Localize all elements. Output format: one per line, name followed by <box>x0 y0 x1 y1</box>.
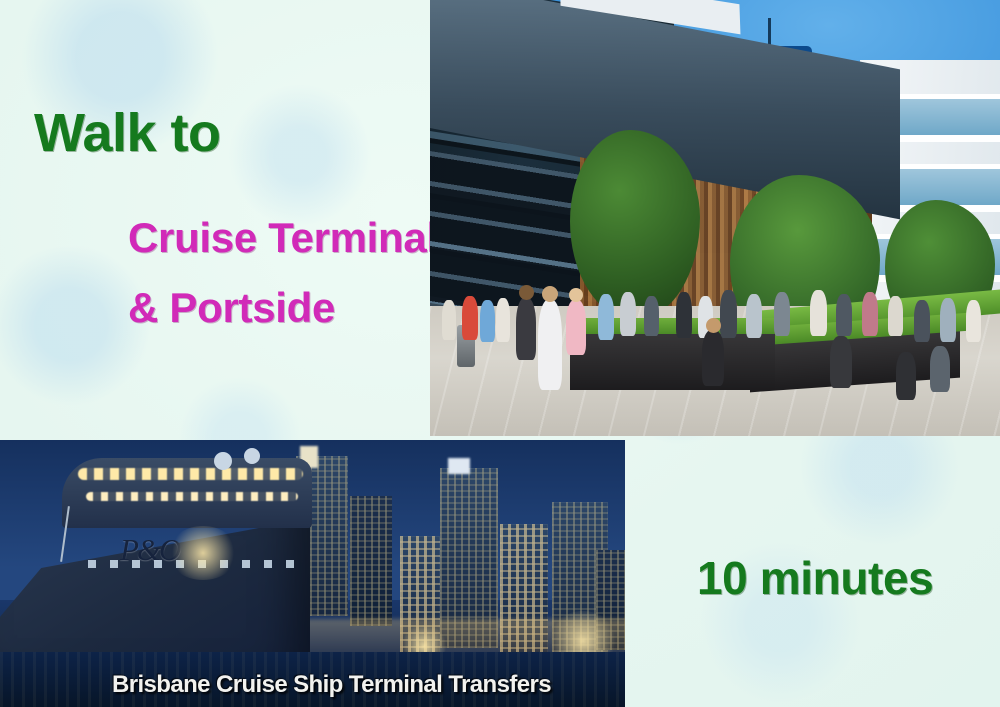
photo-caption: Brisbane Cruise Ship Terminal Transfers <box>112 671 551 699</box>
person <box>966 300 981 342</box>
night-cruise-ship-photo: P&O Brisbane Cruise Ship Terminal Transf… <box>0 440 625 707</box>
person <box>940 298 956 342</box>
person <box>836 294 852 336</box>
person <box>720 290 737 338</box>
person <box>896 352 916 400</box>
person <box>862 292 878 336</box>
radar-dome <box>244 448 260 464</box>
person-head <box>542 286 558 302</box>
person-head <box>706 318 721 333</box>
person <box>914 300 930 342</box>
person <box>566 300 586 355</box>
deck-lights <box>78 468 303 480</box>
headline-and-portside: & Portside <box>128 284 335 332</box>
person <box>516 298 536 360</box>
person <box>930 346 950 392</box>
skyline-tower <box>350 496 392 626</box>
person-head <box>569 288 583 302</box>
person <box>746 294 762 338</box>
person <box>830 336 852 388</box>
person <box>480 300 495 342</box>
person <box>442 300 456 340</box>
person <box>462 296 478 340</box>
deck-lights <box>86 492 298 501</box>
person <box>644 296 659 336</box>
cruise-terminal-plaza-photo <box>430 0 1000 436</box>
person <box>888 296 903 336</box>
person <box>598 294 614 340</box>
tower-roof-light <box>448 458 470 474</box>
person <box>702 330 724 386</box>
headline-walk-to: Walk to <box>34 102 221 164</box>
person <box>676 292 692 338</box>
person <box>496 298 510 342</box>
light-glow <box>168 526 238 580</box>
person-head <box>519 285 534 300</box>
presentation-slide: Walk to Cruise Terminal & Portside 10 mi… <box>0 0 1000 707</box>
person <box>538 300 562 390</box>
person <box>810 290 827 336</box>
radar-dome <box>214 452 232 470</box>
walk-duration-label: 10 minutes <box>697 551 933 605</box>
person <box>620 292 636 336</box>
person <box>774 292 790 336</box>
headline-cruise-terminal: Cruise Terminal <box>128 214 438 262</box>
